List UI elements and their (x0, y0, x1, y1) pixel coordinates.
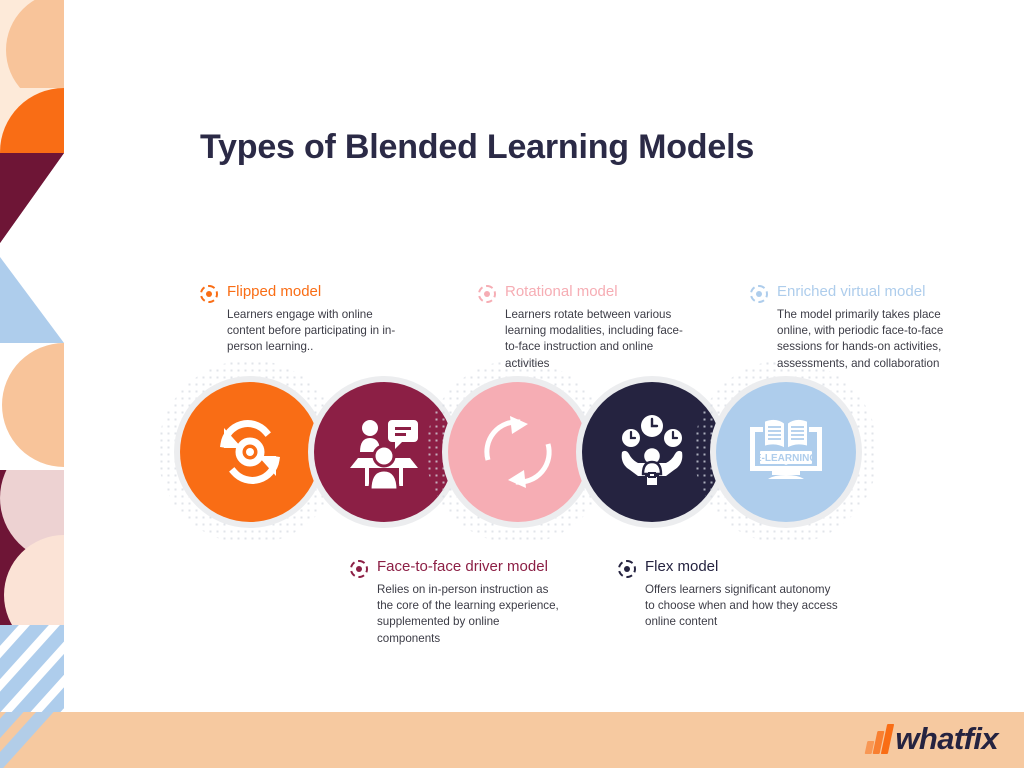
callout-rotational[interactable]: Rotational model Learners rotate between… (478, 283, 688, 372)
maroon-triangle-fill (0, 153, 64, 243)
classroom-instructor-icon (344, 412, 424, 492)
callout-body-flex: Offers learners significant autonomy to … (645, 582, 838, 631)
peach-half-circle-2 (2, 343, 64, 467)
callout-body-enriched-virtual: The model primarily takes place online, … (777, 307, 978, 372)
model-circle-enriched-virtual[interactable]: E-LEARNING (694, 360, 878, 544)
strip-cell-4 (0, 257, 64, 343)
whatfix-logo[interactable]: whatfix (866, 724, 998, 754)
whatfix-wordmark: whatfix (895, 724, 998, 754)
callout-body-face-to-face-driver: Relies on in-person instruction as the c… (377, 582, 565, 647)
circular-rotation-arrows-icon (474, 408, 562, 496)
callout-title-flipped: Flipped model (227, 283, 321, 301)
whatfix-chevron-mark-icon (866, 724, 891, 754)
callout-body-flipped: Learners engage with online content befo… (227, 307, 410, 356)
person-with-clocks-icon (612, 412, 692, 492)
bullet-icon (350, 560, 368, 578)
page-title: Types of Blended Learning Models (200, 128, 960, 167)
bullet-icon (618, 560, 636, 578)
bullet-icon (478, 285, 496, 303)
footer-blue-stripes (0, 712, 64, 768)
models-circle-row: E-LEARNING (0, 360, 1024, 560)
bullet-icon (200, 285, 218, 303)
strip-gap-1 (0, 243, 64, 257)
orange-half-circle (0, 88, 64, 160)
elearning-monitor-icon: E-LEARNING (742, 411, 830, 493)
elearning-label: E-LEARNING (755, 453, 817, 464)
callout-title-flex: Flex model (645, 558, 718, 576)
blue-triangle (0, 257, 64, 343)
strip-cell-2 (0, 88, 64, 160)
callout-title-enriched-virtual: Enriched virtual model (777, 283, 925, 301)
callout-enriched-virtual[interactable]: Enriched virtual model The model primari… (750, 283, 978, 372)
callout-flipped[interactable]: Flipped model Learners engage with onlin… (200, 283, 410, 356)
bullet-icon (750, 285, 768, 303)
strip-cell-6 (0, 470, 64, 625)
callout-body-rotational: Learners rotate between various learning… (505, 307, 688, 372)
flip-sync-arrows-icon (208, 410, 292, 494)
cream-half-circle (4, 535, 64, 625)
callout-title-rotational: Rotational model (505, 283, 618, 301)
callout-title-face-to-face-driver: Face-to-face driver model (377, 558, 548, 576)
callout-face-to-face-driver[interactable]: Face-to-face driver model Relies on in-p… (350, 558, 565, 647)
decorative-left-strip (0, 0, 64, 768)
callout-flex[interactable]: Flex model Offers learners significant a… (618, 558, 838, 631)
strip-cell-5 (0, 343, 64, 473)
circle-disc-enriched-virtual: E-LEARNING (716, 382, 856, 522)
strip-cell-3 (0, 153, 64, 243)
